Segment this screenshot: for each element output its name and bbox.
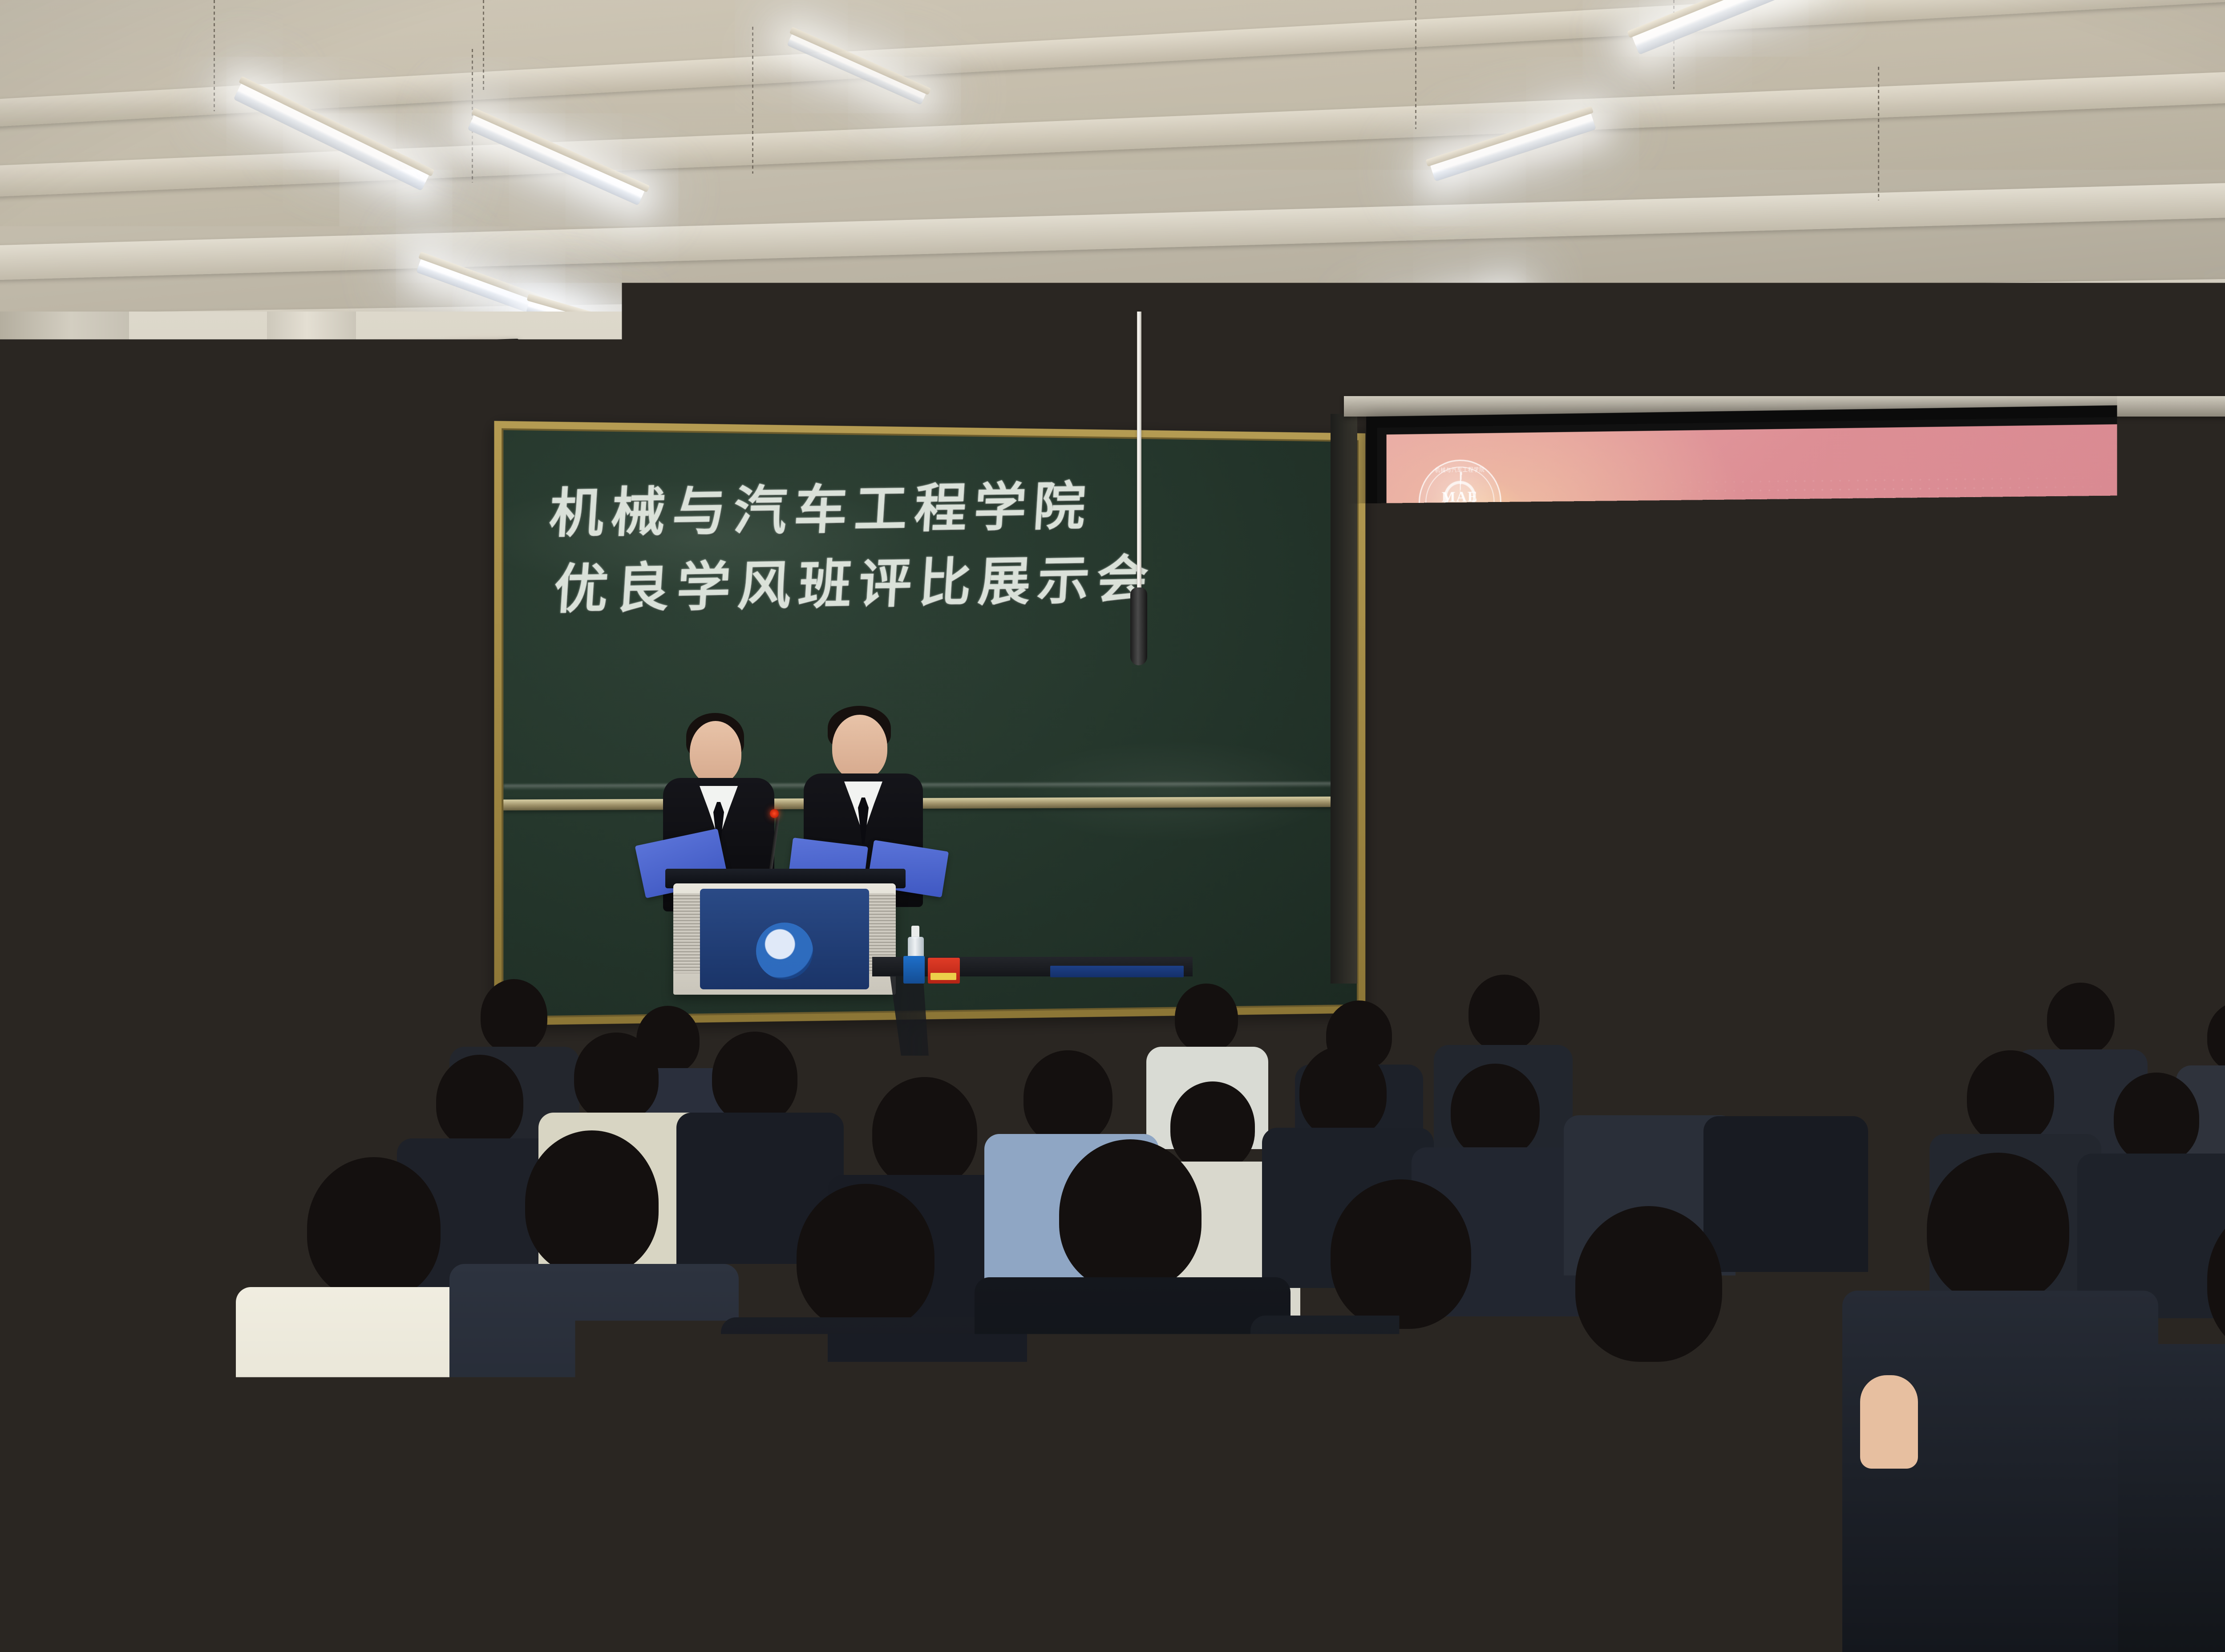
cigarette-icon	[173, 782, 176, 806]
desk-knob	[44, 1232, 62, 1256]
poster-value-word: 自由	[176, 673, 200, 690]
podium-front-panel	[700, 889, 869, 989]
poster-value-word: 友善	[270, 705, 294, 721]
presenter-tie	[858, 798, 869, 844]
poster-value-word: 平等	[207, 673, 231, 690]
door-panel[interactable]	[381, 537, 491, 1008]
desk-knob	[1842, 1072, 1861, 1097]
student-code-poster-body	[224, 744, 299, 822]
mae-college-emblem-icon: 机械与汽车工程学院 MAE 1953	[1419, 459, 1501, 545]
slide-wave-decoration	[1387, 747, 2225, 968]
organizer-rule-left	[1691, 895, 1757, 897]
poster-value-row: 国家 富强 民主 文明 和谐	[135, 638, 298, 664]
blackboard-line-1: 机械与汽车工程学院	[547, 466, 1337, 551]
organizer-rule-right	[1930, 897, 1998, 899]
poster-value-word: 法治	[270, 673, 294, 690]
poster-value-row: 社会 自由 平等 公正 法治	[135, 669, 298, 695]
screen-side-shadow	[1331, 414, 1357, 984]
light-chain	[472, 49, 473, 182]
flag-star-icon: ★	[138, 510, 157, 531]
poster-value-words: 自由 平等 公正 法治	[172, 673, 298, 690]
poster-value-words: 富强 民主 文明 和谐	[172, 642, 298, 659]
poster-value-tag: 国家	[135, 643, 172, 658]
slide-line-1: 机械与汽车工程学院	[1387, 575, 2225, 640]
poster-value-word: 爱国	[176, 705, 200, 721]
presenter-head	[690, 721, 741, 784]
flag-star-icon: ★	[186, 525, 195, 534]
poster-value-tag: 公民	[135, 705, 172, 720]
flag-star-icon: ★	[178, 546, 187, 556]
flag-star-icon: ★	[173, 506, 182, 516]
poster-fine-print: 一个国家的强盛，离不开精神的支撑；一个民族的进步，有赖于文明的成长。	[133, 616, 299, 631]
projection-screen: 机械与汽车工程学院 MAE 1953 机械与汽车工程学院 2021-2022学年…	[1366, 402, 2225, 991]
no-smoking-poster: "无烟校园 绿色青春" 公益广告 健康生活 请勿吸烟	[133, 719, 214, 854]
poster-value-word: 和谐	[270, 642, 294, 659]
no-smoking-poster-title-1: 健康生活	[134, 735, 214, 749]
light-chain	[214, 0, 215, 111]
light-chain	[1878, 67, 1879, 200]
university-seal-icon	[756, 923, 813, 980]
presenter-head	[832, 715, 887, 780]
university-emblem-icon	[262, 517, 299, 553]
classroom-door[interactable]	[369, 525, 503, 1019]
microphone-led-indicator	[770, 809, 779, 818]
poster-value-word: 公正	[239, 673, 263, 690]
backpack	[1909, 1068, 1967, 1105]
presentation-slide: 机械与汽车工程学院 MAE 1953 机械与汽车工程学院 2021-2022学年…	[1387, 421, 2225, 968]
slide-organizer: 学风建设办公室	[1765, 880, 1922, 915]
poster-value-tag: 社会	[135, 674, 172, 689]
blackboard-text: 机械与汽车工程学院 优良学风班评比展示会	[542, 466, 1337, 628]
poster-value-words: 爱国 敬业 诚信 友善	[172, 705, 298, 721]
sanitizer-pump-icon	[911, 926, 919, 938]
light-chain	[752, 27, 753, 174]
blackboard-surface: 机械与汽车工程学院 优良学风班评比展示会	[502, 428, 1359, 1018]
clock-time: 14:19	[379, 348, 504, 396]
blue-tissue-box	[903, 956, 925, 984]
power-adapter	[473, 485, 496, 519]
no-smoking-poster-note: "无烟校园 绿色青春" 公益广告	[134, 723, 214, 728]
blackboard: 机械与汽车工程学院 优良学风班评比展示会	[494, 421, 1365, 1026]
wall-speaker	[173, 427, 222, 490]
blackboard-line-2: 优良学风班评比展示会	[542, 539, 1333, 628]
light-chain	[483, 0, 484, 91]
classroom-photo-scene: ★ ★ ★ ★ ★ 社会主义核心价值观 人民有信仰 民族有希望 国家有力量 一个…	[0, 0, 2225, 1652]
slide-line-2: 2021-2022学年	[1387, 659, 2225, 713]
lecture-podium	[673, 883, 896, 995]
hanging-microphone-icon	[1130, 587, 1147, 665]
poster-value-word: 敬业	[207, 705, 231, 721]
blue-folder-on-desk	[1050, 966, 1184, 977]
hanging-microphone-rod	[1137, 312, 1141, 596]
wall-pipe	[341, 676, 352, 917]
emblem-year: 1953	[1449, 523, 1471, 532]
signal-jammer-device	[360, 478, 468, 510]
poster-value-word: 富强	[176, 642, 200, 659]
wall-digital-clock: 14:19	[362, 339, 521, 405]
poster-value-word: 文明	[239, 642, 263, 659]
red-product-box	[928, 958, 960, 984]
ceiling-beam	[0, 170, 2225, 282]
emblem-abbr: MAE	[1442, 489, 1478, 506]
ceiling	[0, 0, 2225, 338]
light-chain	[1415, 0, 1416, 129]
student-code-poster: 高等学校学生行为准则	[219, 719, 304, 854]
poster-value-word: 诚信	[239, 705, 263, 721]
no-smoking-poster-title-2: 请勿吸烟	[134, 750, 214, 765]
poster-value-word: 民主	[207, 642, 231, 659]
